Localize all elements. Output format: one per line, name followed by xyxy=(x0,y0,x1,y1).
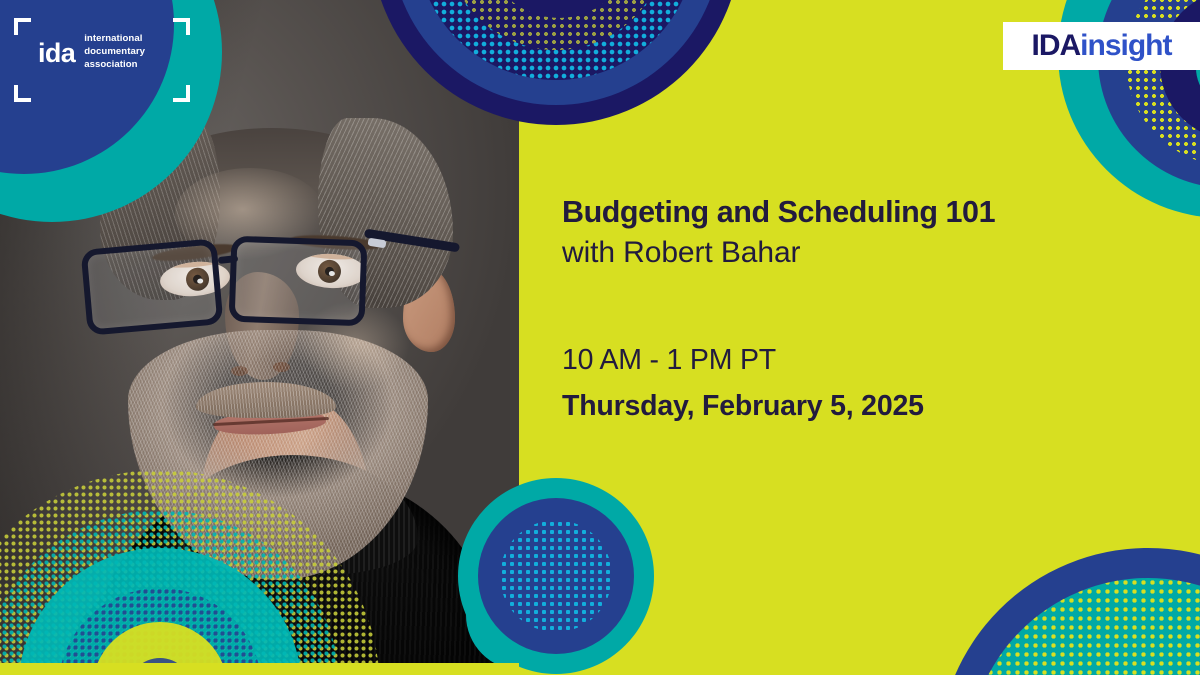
event-heading-block: Budgeting and Scheduling 101 with Robert… xyxy=(562,193,1162,272)
lens-left xyxy=(81,238,224,336)
ida-logo[interactable]: ida international documentary associatio… xyxy=(14,18,190,102)
corner-bracket-bottom-left-icon xyxy=(14,85,31,102)
event-title: Budgeting and Scheduling 101 xyxy=(562,193,1162,233)
idainsight-wordmark-badge[interactable]: IDAinsight xyxy=(1003,22,1200,70)
corner-bracket-top-left-icon xyxy=(14,18,31,35)
wordmark-secondary: insight xyxy=(1080,29,1171,62)
idainsight-wordmark: IDAinsight xyxy=(1032,29,1172,63)
event-schedule-block: 10 AM - 1 PM PT Thursday, February 5, 20… xyxy=(562,338,1162,429)
eyeglasses-icon xyxy=(78,238,448,358)
ida-logo-lockup: ida international documentary associatio… xyxy=(38,32,145,72)
ida-logo-subtitle: international documentary association xyxy=(84,32,145,72)
event-time: 10 AM - 1 PM PT xyxy=(562,338,1162,384)
corner-bracket-top-right-icon xyxy=(173,18,190,35)
glasses-hinge xyxy=(367,238,386,249)
event-date: Thursday, February 5, 2025 xyxy=(562,384,1162,430)
ida-logo-wordmark: ida xyxy=(38,41,75,66)
ida-subtitle-line-2: documentary xyxy=(84,45,145,58)
event-speaker: with Robert Bahar xyxy=(562,233,1162,273)
lens-right xyxy=(229,236,368,327)
bottom-yellow-strip xyxy=(0,663,519,675)
wordmark-primary: IDA xyxy=(1032,29,1081,62)
corner-bracket-bottom-right-icon xyxy=(173,85,190,102)
ida-subtitle-line-1: international xyxy=(84,32,145,45)
event-graphic-canvas: ida international documentary associatio… xyxy=(0,0,1200,675)
ida-subtitle-line-3: association xyxy=(84,58,145,71)
